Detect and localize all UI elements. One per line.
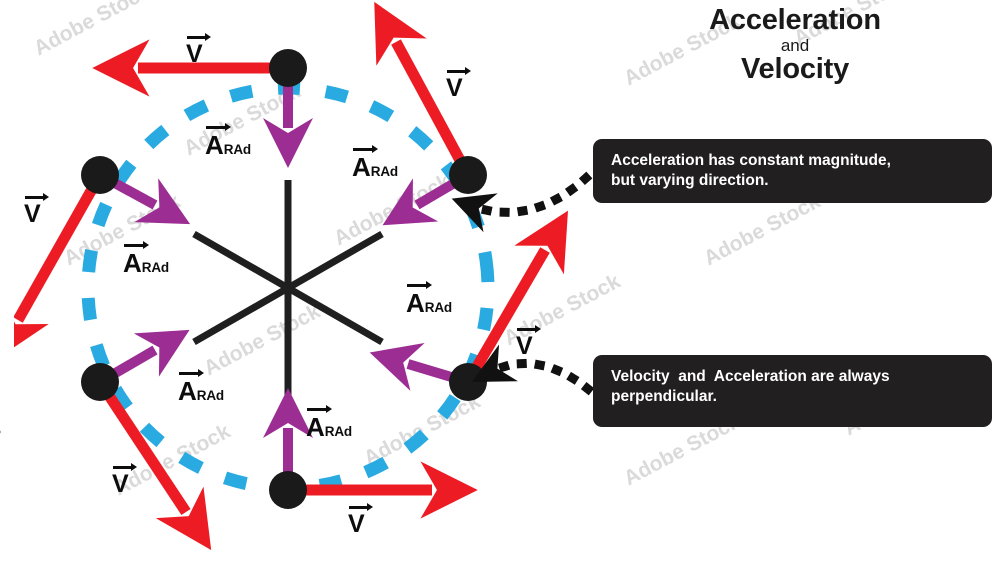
vector-overline-icon (112, 462, 129, 471)
vector-overline-icon (406, 280, 452, 289)
label-acceleration-bottom: ARAd (306, 404, 352, 440)
velocity-arrow-upper-right (396, 42, 468, 175)
particle-node (269, 471, 307, 509)
callout-line: Acceleration has constant magnitude, (611, 151, 976, 171)
label-velocity-lower-left: V (112, 462, 129, 497)
node-lower-left-group (81, 350, 186, 512)
vector-overline-icon (24, 192, 41, 201)
title-line-velocity: Velocity (600, 55, 990, 85)
label-acceleration-lower-left: ARAd (178, 368, 224, 404)
callout-line: perpendicular. (611, 387, 976, 407)
vector-overline-icon (516, 324, 533, 333)
callout-perpendicular-note: Velocity and Acceleration are always per… (593, 355, 992, 427)
acceleration-subscript: RAd (224, 142, 251, 157)
node-upper-right-group (396, 42, 487, 205)
acceleration-subscript: RAd (142, 260, 169, 275)
title-line-acceleration: Acceleration (600, 6, 990, 36)
leader-line-perpendicular-note (491, 364, 588, 389)
particle-node (81, 363, 119, 401)
label-acceleration-upper-left: ARAd (123, 240, 169, 276)
acceleration-subscript: RAd (425, 300, 452, 315)
center-asterisk (194, 180, 382, 396)
vector-overline-icon (306, 404, 352, 413)
vector-overline-icon (352, 144, 398, 153)
label-velocity-left: V (24, 192, 41, 227)
vector-overline-icon (446, 66, 463, 75)
leader-line-acceleration-note (472, 178, 586, 212)
left-edge-strip (0, 0, 14, 550)
label-acceleration-upper-right: ARAd (352, 144, 398, 180)
vector-overline-icon (178, 368, 224, 377)
acceleration-subscript: RAd (325, 424, 352, 439)
callout-line: Velocity and Acceleration are always (611, 367, 976, 387)
particle-node (449, 156, 487, 194)
label-velocity-bottom: V (348, 502, 365, 537)
label-velocity-upper-right: V (446, 66, 463, 101)
diagram-canvas: Adobe Stock Adobe Stock Adobe Stock Adob… (0, 0, 1000, 550)
vector-overline-icon (123, 240, 169, 249)
acceleration-subscript: RAd (197, 388, 224, 403)
page-title: Acceleration and Velocity (600, 6, 990, 84)
particle-node (449, 363, 487, 401)
vector-overline-icon (205, 122, 251, 131)
label-velocity-top: V (186, 32, 203, 67)
node-upper-left-group (18, 156, 155, 320)
acceleration-subscript: RAd (371, 164, 398, 179)
vector-overline-icon (348, 502, 365, 511)
vector-overline-icon (186, 32, 203, 41)
label-velocity-right: V (516, 324, 533, 359)
particle-node (81, 156, 119, 194)
callout-line: but varying direction. (611, 171, 976, 191)
particle-node (269, 49, 307, 87)
node-bottom-group (269, 428, 432, 509)
callout-acceleration-note: Acceleration has constant magnitude, but… (593, 139, 992, 203)
label-acceleration-right: ARAd (406, 280, 452, 316)
title-conjunction: and (600, 37, 990, 54)
label-acceleration-top: ARAd (205, 122, 251, 158)
